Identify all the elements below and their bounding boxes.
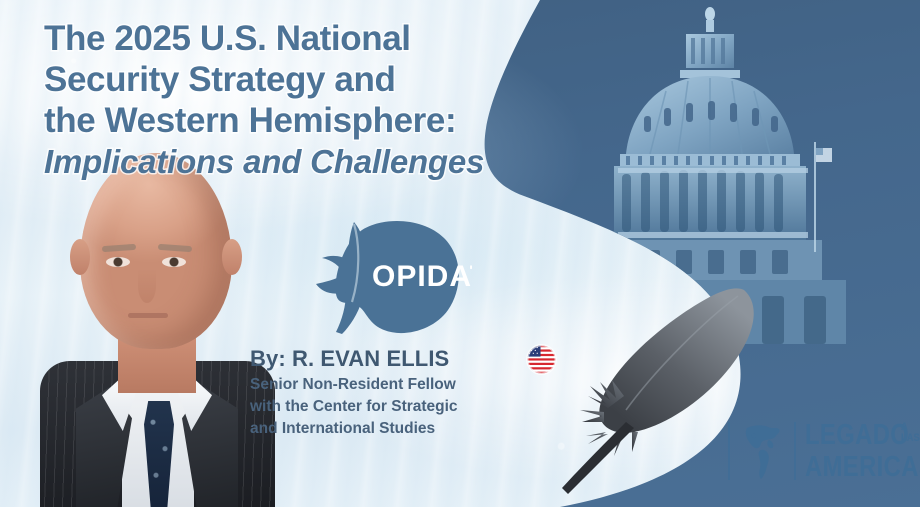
portrait-eye-left xyxy=(106,257,130,267)
legado-rule-right xyxy=(794,422,796,480)
page-title: The 2025 U.S. National Security Strategy… xyxy=(44,18,684,183)
opidata-logo[interactable]: OPIDATA xyxy=(292,214,472,342)
portrait-ear-left xyxy=(70,239,90,275)
legado-americas-logo[interactable]: LEGADO A LAS AMERICAS xyxy=(728,420,920,482)
portrait-nose xyxy=(138,269,156,303)
author-affiliation-line-1: Senior Non-Resident Fellow xyxy=(250,375,458,394)
legado-small-stack: A LAS xyxy=(901,422,920,444)
americas-map-icon xyxy=(739,420,785,482)
opidata-wordmark: OPIDATA xyxy=(372,260,472,293)
title-subtitle: Implications and Challenges xyxy=(44,141,684,183)
legado-rule-left xyxy=(728,422,730,480)
title-line-2: Security Strategy and xyxy=(44,59,684,100)
portrait-eye-right xyxy=(162,257,186,267)
author-portrait xyxy=(40,147,275,507)
author-affiliation-line-3: and International Studies xyxy=(250,419,458,438)
title-line-1: The 2025 U.S. National xyxy=(44,18,684,59)
legado-small-bottom: LAS xyxy=(901,433,920,444)
byline: By: R. EVAN ELLIS Senior Non-Resident Fe… xyxy=(250,346,458,438)
legado-line-1: LEGADO xyxy=(805,421,909,450)
portrait-mouth xyxy=(128,313,168,318)
opidata-feather-icon xyxy=(316,222,367,334)
legado-row-top: LEGADO A LAS xyxy=(805,421,920,450)
legado-line-2: AMERICAS xyxy=(805,453,920,482)
legado-wordmark: LEGADO A LAS AMERICAS xyxy=(805,421,920,482)
poster-canvas: The 2025 U.S. National Security Strategy… xyxy=(0,0,920,507)
title-line-3: the Western Hemisphere: xyxy=(44,100,684,141)
portrait-ear-right xyxy=(222,239,242,275)
us-flag-circle-icon xyxy=(527,345,556,374)
author-name: By: R. EVAN ELLIS xyxy=(250,346,458,372)
author-affiliation-line-2: with the Center for Strategic xyxy=(250,397,458,416)
